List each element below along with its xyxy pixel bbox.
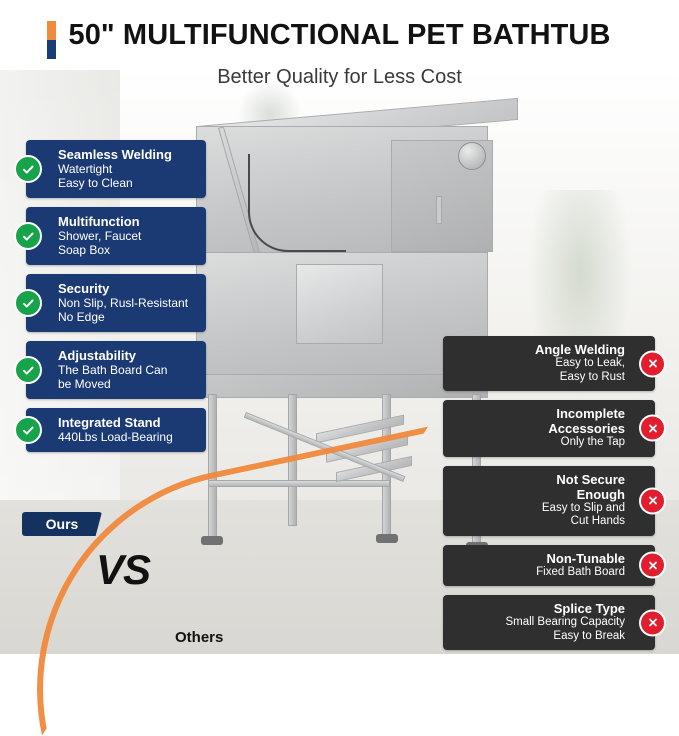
pro-desc: Watertight Easy to Clean xyxy=(58,162,198,190)
pro-title: Seamless Welding xyxy=(58,147,198,162)
list-item: Not Secure Enough Easy to Slip and Cut H… xyxy=(443,466,655,536)
pro-desc: The Bath Board Can be Moved xyxy=(58,363,198,391)
con-desc: Small Bearing Capacity Easy to Break xyxy=(453,616,625,643)
pro-title: Multifunction xyxy=(58,214,198,229)
tub-bath-board xyxy=(296,264,383,344)
cross-icon xyxy=(639,487,666,514)
page-title: 50" MULTIFUNCTIONAL PET BATHTUB xyxy=(0,16,679,54)
check-icon xyxy=(14,155,42,183)
con-desc: Easy to Slip and Cut Hands xyxy=(453,502,625,529)
shower-head-icon xyxy=(458,142,486,170)
pro-title: Integrated Stand xyxy=(58,415,198,430)
pro-desc: Shower, Faucet Soap Box xyxy=(58,229,198,257)
cross-icon xyxy=(639,552,666,579)
list-item: Adjustability The Bath Board Can be Move… xyxy=(26,341,206,399)
cross-icon xyxy=(639,415,666,442)
con-title: Not Secure Enough xyxy=(453,472,625,502)
ours-label: Ours xyxy=(22,512,102,536)
pro-desc: Non Slip, Rusl-Resistant No Edge xyxy=(58,296,198,324)
faucet-icon xyxy=(436,196,442,224)
pro-title: Adjustability xyxy=(58,348,198,363)
pro-desc: 440Lbs Load-Bearing xyxy=(58,430,198,444)
page-subtitle: Better Quality for Less Cost xyxy=(0,66,679,89)
cons-list: Angle Welding Easy to Leak, Easy to Rust… xyxy=(443,336,655,659)
list-item: Angle Welding Easy to Leak, Easy to Rust xyxy=(443,336,655,391)
list-item: Splice Type Small Bearing Capacity Easy … xyxy=(443,595,655,650)
check-icon xyxy=(14,289,42,317)
vs-label: VS xyxy=(96,546,150,594)
check-icon xyxy=(14,416,42,444)
list-item: Non-Tunable Fixed Bath Board xyxy=(443,545,655,587)
pro-title: Security xyxy=(58,281,198,296)
con-desc: Only the Tap xyxy=(453,436,625,450)
list-item: Incomplete Accessories Only the Tap xyxy=(443,400,655,457)
others-label: Others xyxy=(175,629,223,646)
check-icon xyxy=(14,356,42,384)
pros-list: Seamless Welding Watertight Easy to Clea… xyxy=(26,140,206,461)
list-item: Integrated Stand 440Lbs Load-Bearing xyxy=(26,408,206,452)
con-title: Incomplete Accessories xyxy=(453,406,625,436)
list-item: Multifunction Shower, Faucet Soap Box xyxy=(26,207,206,265)
page-title-text: 50" MULTIFUNCTIONAL PET BATHTUB xyxy=(0,16,679,54)
shower-hose xyxy=(248,154,346,252)
list-item: Security Non Slip, Rusl-Resistant No Edg… xyxy=(26,274,206,332)
cross-icon xyxy=(639,350,666,377)
check-icon xyxy=(14,222,42,250)
cross-icon xyxy=(639,609,666,636)
con-title: Non-Tunable xyxy=(453,551,625,566)
con-title: Angle Welding xyxy=(453,342,625,357)
list-item: Seamless Welding Watertight Easy to Clea… xyxy=(26,140,206,198)
con-desc: Easy to Leak, Easy to Rust xyxy=(453,357,625,384)
con-title: Splice Type xyxy=(453,601,625,616)
con-desc: Fixed Bath Board xyxy=(453,566,625,580)
